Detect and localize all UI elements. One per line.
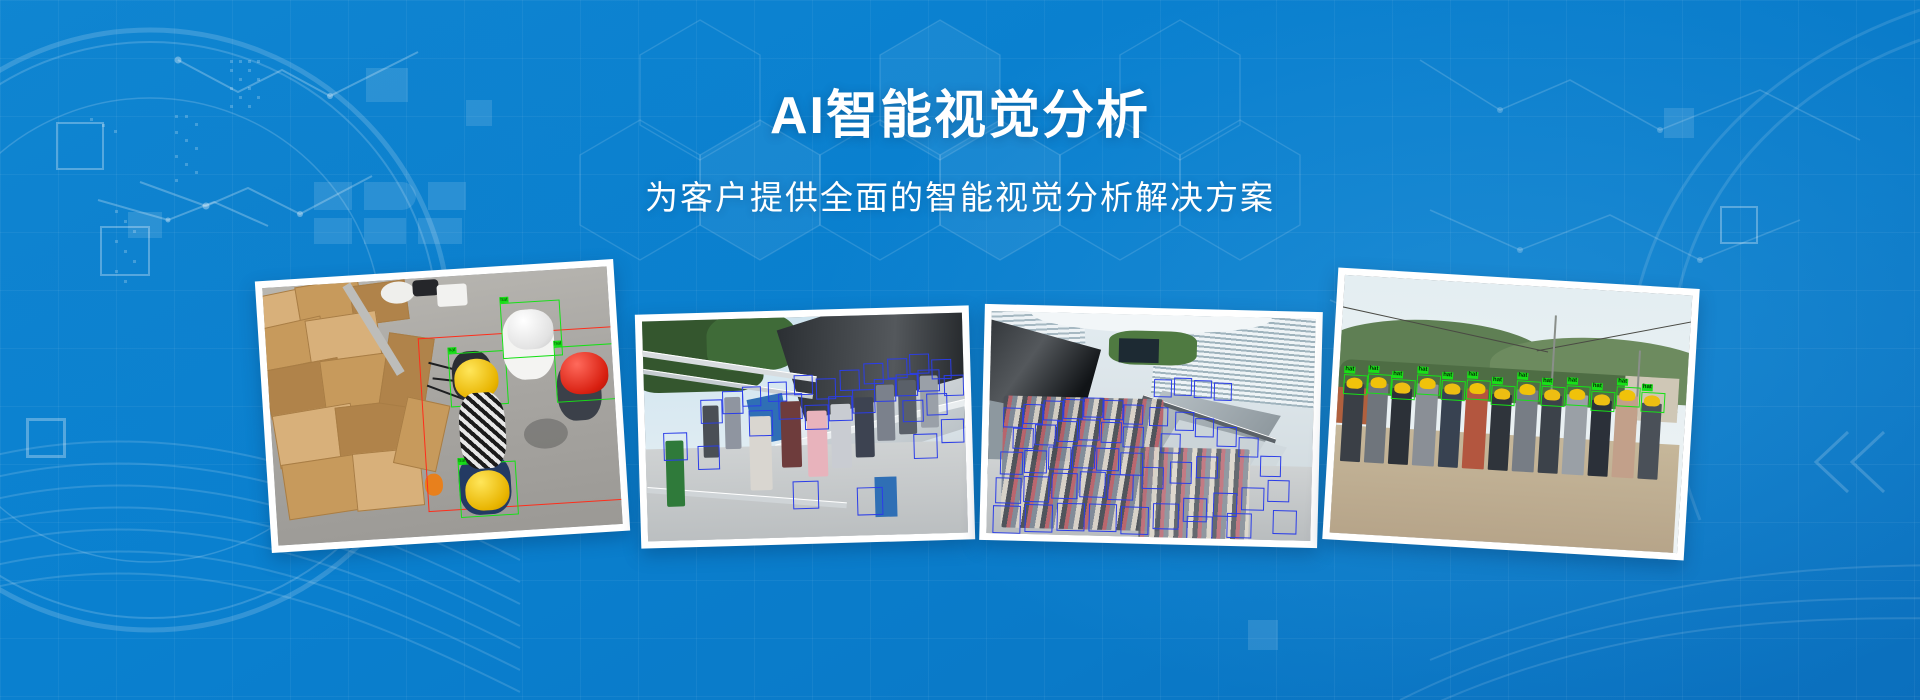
hat-detection-label: hat <box>1617 378 1628 386</box>
person-detection-box <box>1186 516 1213 541</box>
face-detection-box <box>742 386 762 407</box>
face-detection-box <box>941 419 965 444</box>
photo-3-image <box>986 311 1315 541</box>
person-scarf <box>457 391 508 470</box>
person-detection-box <box>1072 445 1096 469</box>
face-detection-box <box>700 399 723 424</box>
hat-detection-box <box>1616 386 1641 407</box>
face-detection-box <box>816 378 837 400</box>
hat-detection-label: hat <box>1344 366 1355 374</box>
hat-detection-label: hat <box>1417 366 1428 374</box>
decor-square-solid-9 <box>1248 620 1278 650</box>
hat-detection-box <box>1416 374 1441 395</box>
hat-detection-box <box>1391 379 1416 400</box>
hat-detection-box <box>1640 392 1665 413</box>
hat-detection-label: hat <box>1592 383 1603 391</box>
face-detection-box <box>913 433 938 459</box>
face-detection-box <box>909 354 930 375</box>
face-detection-box <box>828 396 853 422</box>
person-detection-box <box>1000 451 1024 475</box>
gallery-photo-pedestrian-bridge-face-detection[interactable] <box>635 305 975 548</box>
person-detection-box <box>1241 487 1265 511</box>
photo-1-image: hat hat hat hat <box>262 266 623 545</box>
face-detection-box <box>839 369 860 391</box>
person-detection-box <box>1024 450 1048 474</box>
person-detection-box <box>1196 456 1219 479</box>
person-detection-box <box>1101 422 1123 444</box>
face-detection-box <box>794 375 814 396</box>
ai-vision-banner: AI智能视觉分析 为客户提供全面的智能视觉分析解决方案 <box>0 0 1920 700</box>
person-detection-box <box>1160 433 1180 453</box>
hat-detection-box <box>1466 379 1491 400</box>
hat-detection-label: hat <box>1642 384 1653 392</box>
person-detection-box <box>1123 404 1143 424</box>
person-detection-box <box>1120 506 1149 535</box>
person-detection-box <box>1083 397 1103 417</box>
hat-detection-label: hat <box>1517 372 1528 380</box>
person-detection-box <box>1238 437 1258 457</box>
face-detection-box <box>793 481 820 510</box>
person-detection-box <box>1175 412 1194 431</box>
photo-2-image <box>642 313 968 542</box>
hat-detection-label: hat <box>1492 377 1503 385</box>
helmet-detection-box <box>458 461 519 519</box>
gallery-photo-warehouse-helmet-detection[interactable]: hat hat hat hat <box>255 259 630 553</box>
face-detection-box <box>863 363 884 385</box>
person-detection-box <box>1043 400 1063 420</box>
person-detection-box <box>1226 513 1252 539</box>
person-detection-box <box>1152 503 1179 530</box>
person-detection-box <box>1195 418 1214 437</box>
person-detection-box <box>1024 504 1053 533</box>
person-detection-box <box>1122 426 1144 448</box>
face-detection-box <box>749 410 774 437</box>
person-detection-box <box>1034 424 1056 446</box>
face-detection-box <box>768 381 788 402</box>
black-object <box>412 279 439 297</box>
display-screen <box>1119 338 1160 363</box>
person-detection-box <box>1096 448 1120 472</box>
helmet-detection-label: hat <box>499 297 508 304</box>
hat-detection-box <box>1441 380 1466 401</box>
face-detection-box <box>857 487 884 516</box>
white-tray <box>436 283 467 307</box>
person-detection-box <box>1194 380 1212 398</box>
person-detection-box <box>1170 461 1193 484</box>
gallery-photo-outdoor-group-hat-detection[interactable]: hat hat hat hat hat hat hat <box>1322 268 1699 561</box>
helmet-detection-label: hat <box>553 340 562 347</box>
person-detection-box <box>1214 383 1232 401</box>
person-detection-box <box>1267 480 1290 503</box>
person-detection-box <box>1272 510 1297 535</box>
person-detection-box <box>992 505 1021 534</box>
hat-detection-label: hat <box>1392 371 1403 379</box>
page-subtitle: 为客户提供全面的智能视觉分析解决方案 <box>0 171 1920 219</box>
person-detection-box <box>1103 400 1123 420</box>
person-detection-box <box>1149 407 1168 426</box>
face-detection-box <box>663 432 688 461</box>
person-detection-box <box>1079 419 1101 441</box>
face-detection-box <box>926 393 948 416</box>
person-detection-box <box>1107 474 1134 501</box>
photo-4-image: hat hat hat hat hat hat hat <box>1330 275 1693 553</box>
face-detection-box <box>887 358 908 379</box>
person-detection-box <box>1154 379 1172 397</box>
hat-detection-label: hat <box>1368 365 1379 373</box>
decor-square-solid-7 <box>418 218 462 244</box>
hat-detection-box <box>1541 386 1566 407</box>
hat-detection-label: hat <box>1567 377 1578 385</box>
hat-detection-box <box>1516 380 1541 401</box>
decor-square-solid-5 <box>314 218 352 244</box>
helmet-detection-label: hat <box>447 347 456 354</box>
decor-square-solid-6 <box>364 218 406 244</box>
helmet-detection-box <box>554 343 617 403</box>
person-detection-box <box>1023 404 1043 424</box>
hat-detection-label: hat <box>1442 372 1453 380</box>
photo-gallery: hat hat hat hat <box>0 300 1920 580</box>
hat-detection-box <box>1491 385 1516 406</box>
person-detection-box <box>1120 452 1144 476</box>
hat-detection-box <box>1343 374 1368 395</box>
person-detection-box <box>1012 428 1034 450</box>
person-detection-box <box>1260 456 1282 478</box>
face-detection-box <box>852 389 876 414</box>
person-detection-box <box>1051 473 1078 500</box>
person-detection-box <box>1056 503 1085 532</box>
person-detection-box <box>1079 471 1106 498</box>
hat-detection-box <box>1367 373 1392 394</box>
person-detection-box <box>1023 476 1050 503</box>
person-detection-box <box>1003 407 1023 427</box>
face-detection-box <box>722 391 744 415</box>
person-detection-box <box>1057 421 1079 443</box>
face-detection-box <box>902 400 924 423</box>
banner-heading-block: AI智能视觉分析 为客户提供全面的智能视觉分析解决方案 <box>0 88 1920 219</box>
person-detection-box <box>1048 447 1072 471</box>
hat-detection-label: hat <box>1467 371 1478 379</box>
face-detection-box <box>697 445 720 470</box>
person-detection-box <box>1063 399 1083 419</box>
face-detection-box <box>804 404 829 430</box>
person-detection-box <box>1088 504 1117 533</box>
person-detection-box <box>995 477 1022 504</box>
hat-detection-label: hat <box>1542 378 1553 386</box>
hat-detection-box <box>1566 385 1591 406</box>
person-detection-box <box>1217 427 1237 447</box>
gallery-photo-escalator-crowd-detection[interactable] <box>979 304 1323 548</box>
person-detection-box <box>1174 378 1192 396</box>
hat-detection-box <box>1590 391 1615 412</box>
person-detection-box <box>1141 467 1164 490</box>
page-title: AI智能视觉分析 <box>0 88 1920 145</box>
